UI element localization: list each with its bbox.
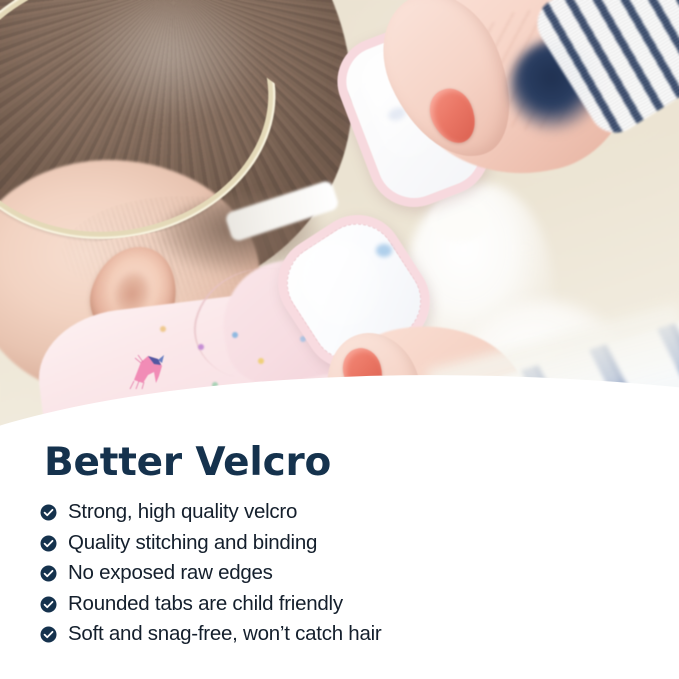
check-circle-icon <box>40 535 57 552</box>
product-feature-graphic: Better Velcro Strong, high quality velcr… <box>0 0 679 679</box>
check-circle-icon <box>40 565 57 582</box>
bib-dot <box>198 344 204 350</box>
check-circle-icon <box>40 626 57 643</box>
list-item: Soft and snag-free, won’t catch hair <box>40 619 600 650</box>
bib-dot <box>160 326 166 332</box>
bib-dot <box>232 332 238 338</box>
feature-label: No exposed raw edges <box>68 563 273 584</box>
bib-dot <box>258 358 264 364</box>
feature-label: Rounded tabs are child friendly <box>68 594 343 615</box>
feature-label: Quality stitching and binding <box>68 533 317 554</box>
list-item: No exposed raw edges <box>40 558 600 589</box>
list-item: Quality stitching and binding <box>40 528 600 559</box>
list-item: Strong, high quality velcro <box>40 497 600 528</box>
feature-label: Strong, high quality velcro <box>68 502 297 523</box>
check-circle-icon <box>40 596 57 613</box>
page-title: Better Velcro <box>44 443 331 482</box>
feature-label: Soft and snag-free, won’t catch hair <box>68 624 382 645</box>
velcro-tab-lower-print-mark <box>376 244 392 257</box>
feature-list: Strong, high quality velcro Quality stit… <box>40 497 600 650</box>
list-item: Rounded tabs are child friendly <box>40 589 600 620</box>
check-circle-icon <box>40 504 57 521</box>
unicorn-print-icon <box>128 350 172 390</box>
white-highlight-blob <box>430 196 490 242</box>
